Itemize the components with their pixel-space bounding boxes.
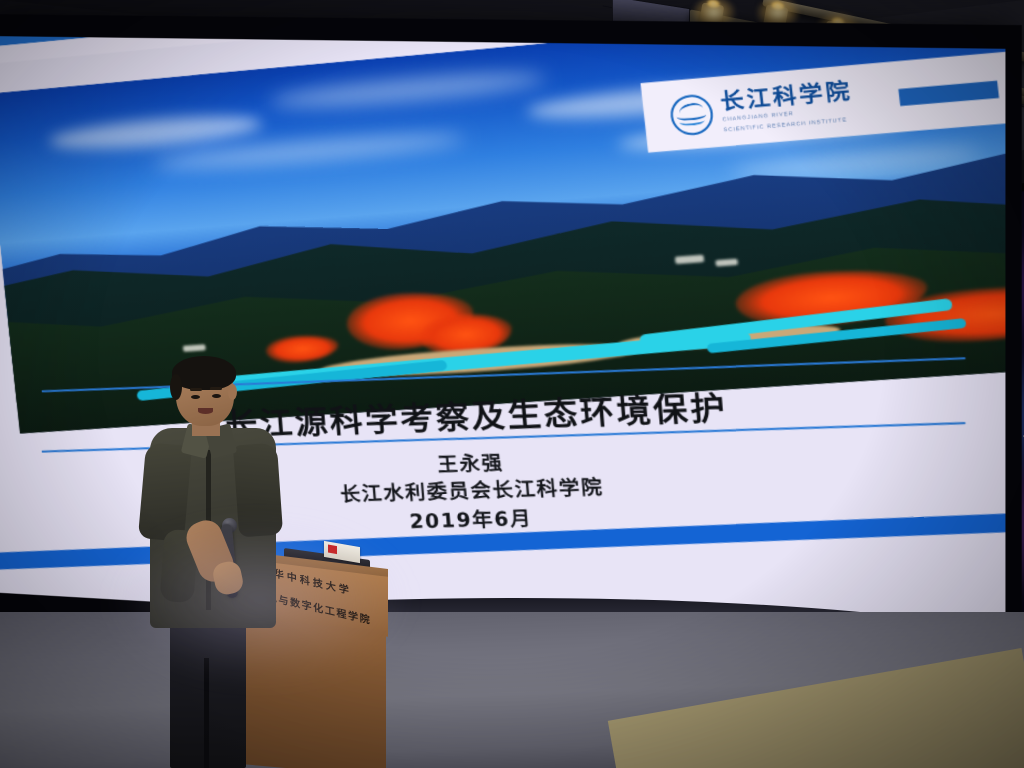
presenter-eye [191, 395, 200, 399]
presenter-eye [212, 394, 221, 398]
presenter-hair-side [170, 374, 182, 400]
presenter-mouth [198, 408, 213, 414]
conference-hall-scene: 长江科学院 CHANGJIANG RIVER SCIENTIFIC RESEAR… [0, 0, 1024, 768]
presenter-right-sleeve [233, 443, 283, 538]
presenter-left-sleeve [138, 442, 192, 542]
leg-separation [204, 658, 209, 768]
institute-logo: 长江科学院 CHANGJIANG RIVER SCIENTIFIC RESEAR… [668, 80, 855, 138]
logo-accent-block [898, 81, 999, 106]
presenter-ear [228, 384, 237, 400]
presenter-brow [190, 388, 202, 391]
presenter-figure [136, 358, 296, 768]
river-wave-logo-icon [669, 93, 715, 137]
presenter-brow [210, 387, 222, 390]
